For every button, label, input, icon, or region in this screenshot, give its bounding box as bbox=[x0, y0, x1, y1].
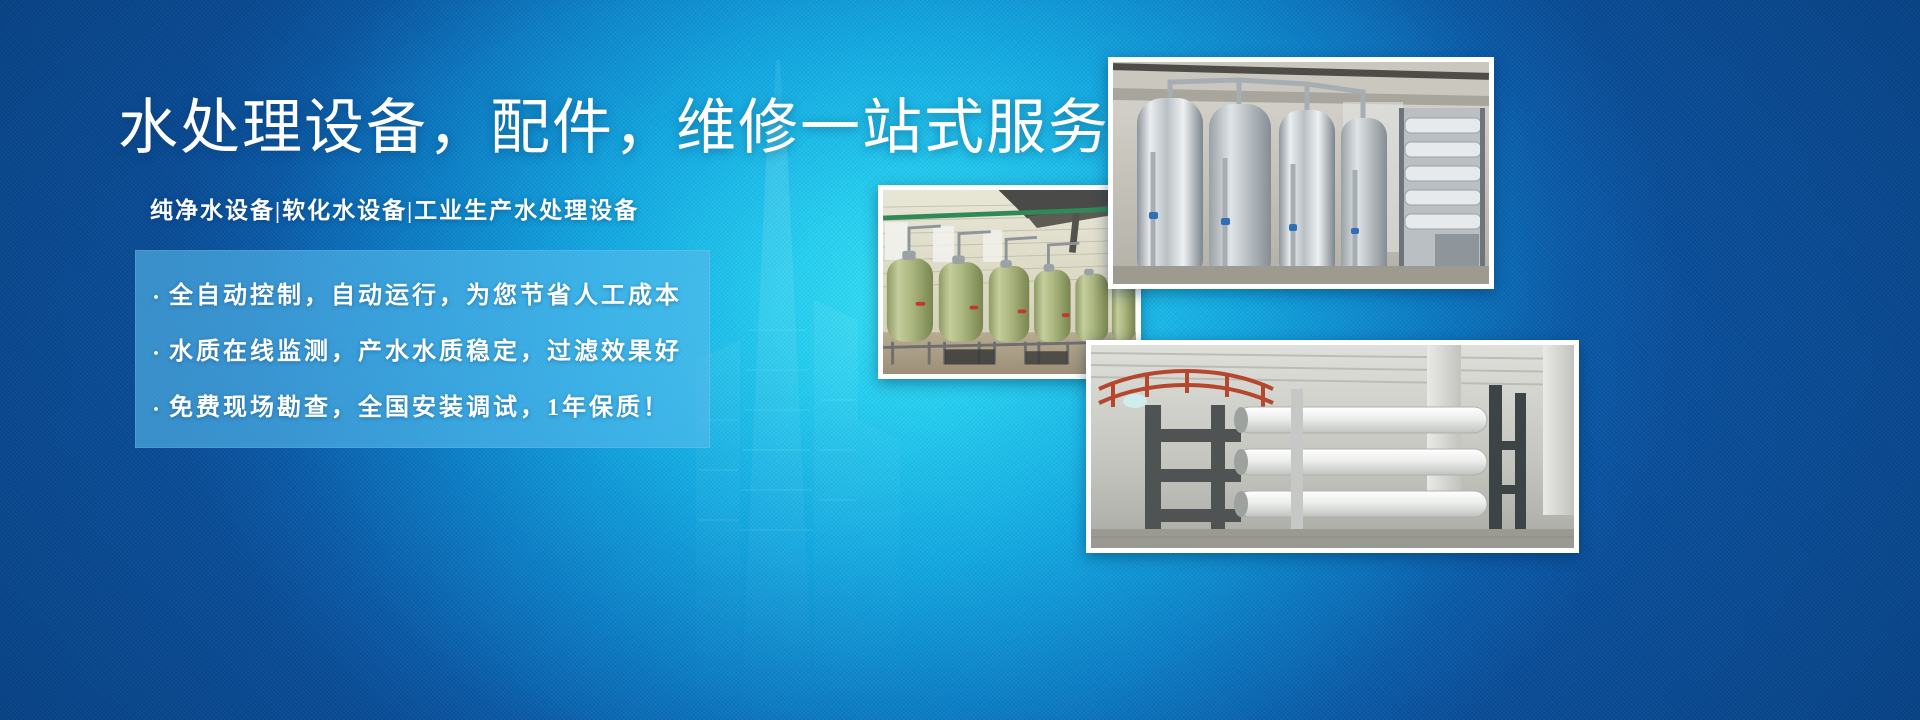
list-item: . 全自动控制，自动运行，为您节省人工成本 bbox=[153, 264, 710, 320]
feature-list-panel: . 全自动控制，自动运行，为您节省人工成本 . 水质在线监测，产水水质稳定，过滤… bbox=[135, 250, 710, 448]
stainless-steel-filter-tanks-image bbox=[1113, 62, 1489, 284]
bullet-dot-icon: . bbox=[153, 280, 169, 304]
promo-banner: 水处理设备，配件，维修一站式服务 纯净水设备|软化水设备|工业生产水处理设备 .… bbox=[0, 0, 1920, 720]
photo-inner bbox=[1113, 62, 1489, 284]
list-item-label: 水质在线监测，产水水质稳定，过滤效果好 bbox=[169, 331, 682, 366]
photo-stainless-steel-filter-tanks bbox=[1108, 57, 1494, 289]
photo-inner bbox=[1091, 345, 1574, 548]
photo-reverse-osmosis-membrane-skid bbox=[1086, 340, 1579, 553]
page-title: 水处理设备，配件，维修一站式服务 bbox=[118, 96, 1038, 161]
list-item-label: 全自动控制，自动运行，为您节省人工成本 bbox=[169, 275, 682, 310]
list-item: . 免费现场勘查，全国安装调试，1年保质！ bbox=[153, 376, 710, 432]
bullet-dot-icon: . bbox=[153, 336, 169, 360]
list-item: . 水质在线监测，产水水质稳定，过滤效果好 bbox=[153, 320, 710, 376]
list-item-label: 免费现场勘查，全国安装调试，1年保质！ bbox=[169, 387, 670, 422]
bullet-dot-icon: . bbox=[153, 392, 169, 416]
reverse-osmosis-membrane-skid-image bbox=[1091, 345, 1574, 548]
